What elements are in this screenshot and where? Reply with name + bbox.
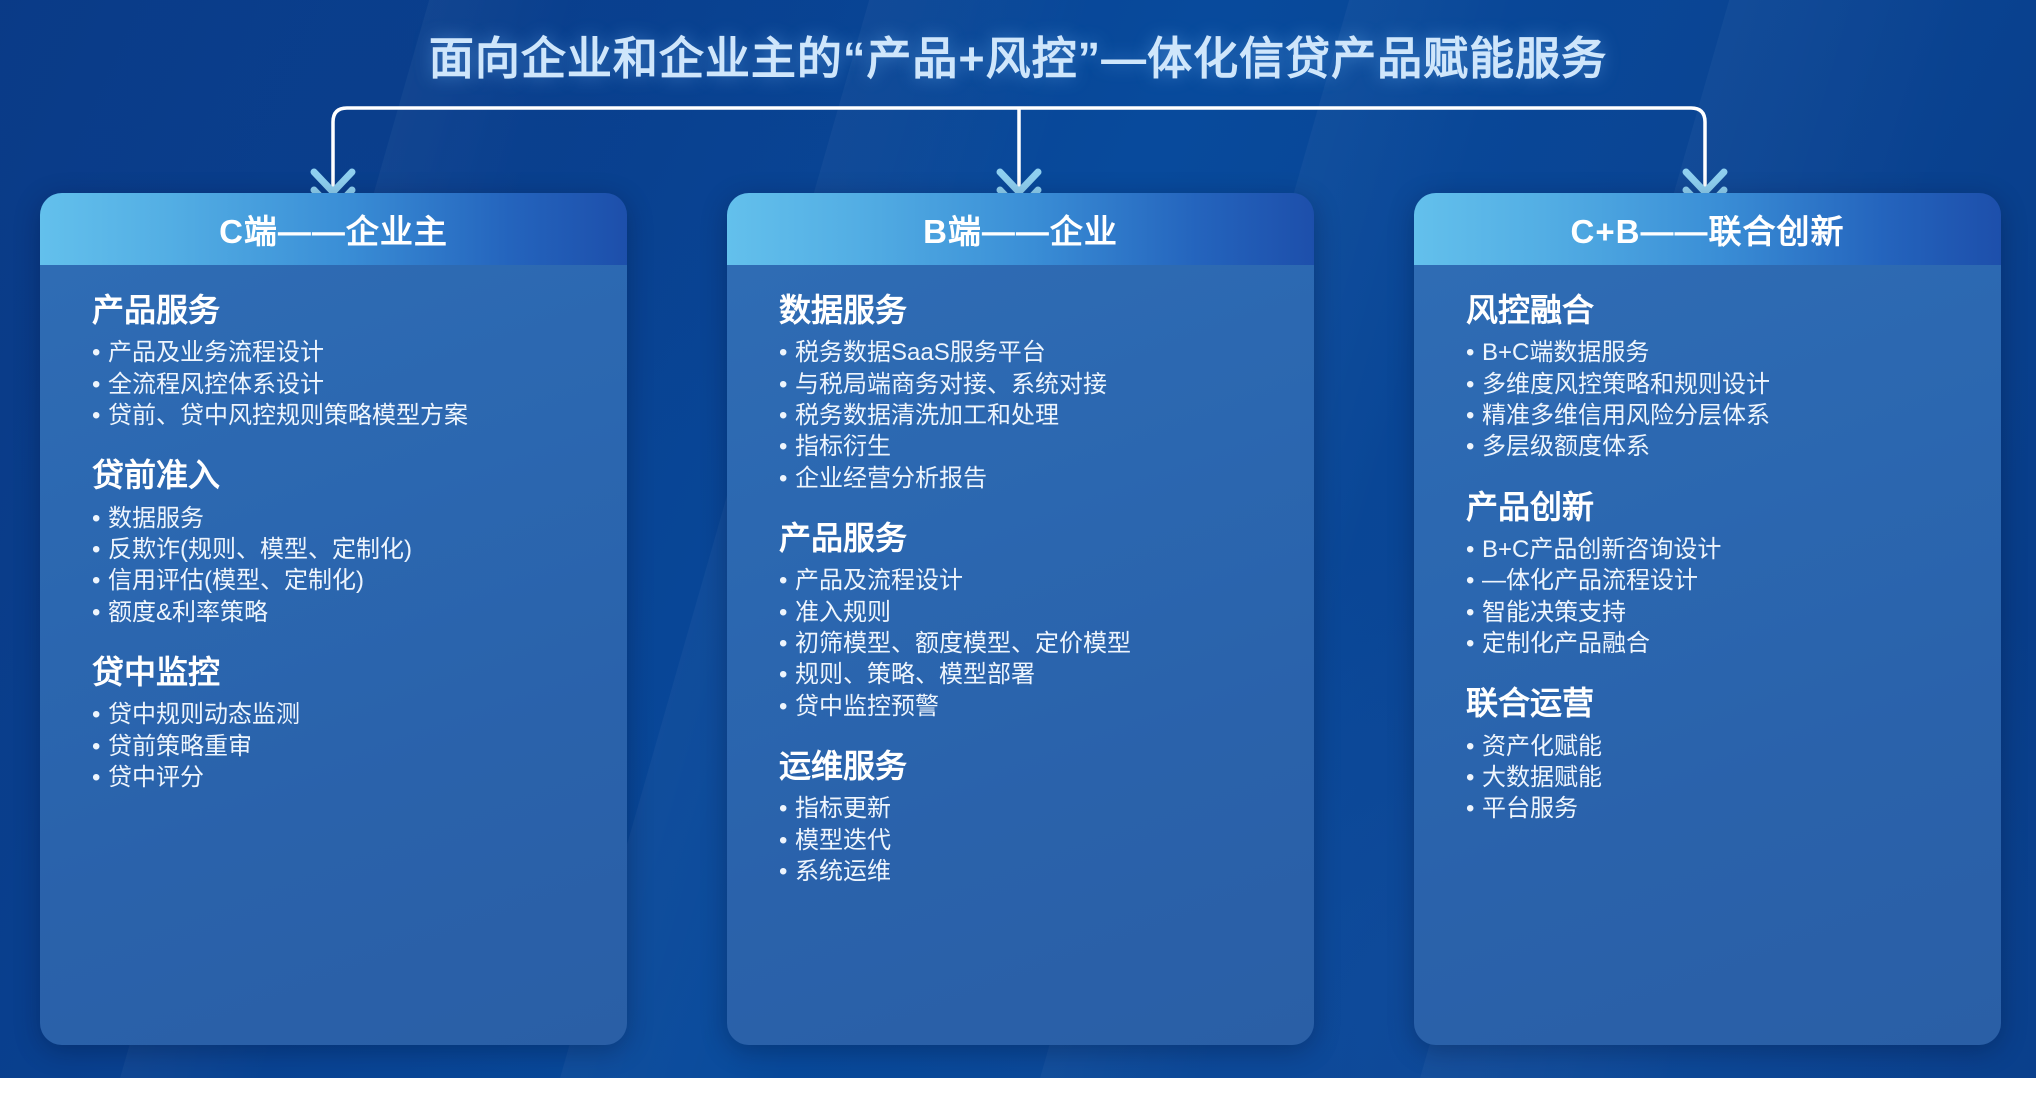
section-block: 产品服务 产品及流程设计 准入规则 初筛模型、额度模型、定价模型 规则、策略、模… bbox=[779, 519, 1288, 721]
bracket-connector bbox=[0, 86, 2036, 206]
list-item: 系统运维 bbox=[779, 858, 1288, 886]
list-item: 与税局端商务对接、系统对接 bbox=[779, 371, 1288, 399]
list-item: 贷前、贷中风控规则策略模型方案 bbox=[92, 402, 601, 430]
column-card-b-end[interactable]: B端——企业 数据服务 税务数据SaaS服务平台 与税局端商务对接、系统对接 税… bbox=[727, 193, 1314, 1045]
section-title: 风控融合 bbox=[1466, 291, 1975, 329]
section-title: 联合运营 bbox=[1466, 684, 1975, 722]
list-item: 智能决策支持 bbox=[1466, 599, 1975, 627]
list-item: —体化产品流程设计 bbox=[1466, 567, 1975, 595]
list-item: 多维度风控策略和规则设计 bbox=[1466, 371, 1975, 399]
column-card-c-plus-b[interactable]: C+B——联合创新 风控融合 B+C端数据服务 多维度风控策略和规则设计 精准多… bbox=[1414, 193, 2001, 1045]
section-item-list: 资产化赋能 大数据赋能 平台服务 bbox=[1466, 733, 1975, 824]
section-block: 贷中监控 贷中规则动态监测 贷前策略重审 贷中评分 bbox=[92, 653, 601, 792]
section-title: 运维服务 bbox=[779, 747, 1288, 785]
page-title: 面向企业和企业主的“产品+风控”—体化信贷产品赋能服务 bbox=[0, 22, 2036, 87]
section-item-list: 贷中规则动态监测 贷前策略重审 贷中评分 bbox=[92, 701, 601, 792]
column-body-c-plus-b: 风控融合 B+C端数据服务 多维度风控策略和规则设计 精准多维信用风险分层体系 … bbox=[1414, 265, 2001, 1045]
section-block: 产品服务 产品及业务流程设计 全流程风控体系设计 贷前、贷中风控规则策略模型方案 bbox=[92, 291, 601, 430]
column-body-c-end: 产品服务 产品及业务流程设计 全流程风控体系设计 贷前、贷中风控规则策略模型方案… bbox=[40, 265, 627, 1045]
section-block: 贷前准入 数据服务 反欺诈(规则、模型、定制化) 信用评估(模型、定制化) 额度… bbox=[92, 456, 601, 627]
list-item: 反欺诈(规则、模型、定制化) bbox=[92, 536, 601, 564]
section-block: 产品创新 B+C产品创新咨询设计 —体化产品流程设计 智能决策支持 定制化产品融… bbox=[1466, 488, 1975, 659]
list-item: B+C端数据服务 bbox=[1466, 339, 1975, 367]
list-item: 规则、策略、模型部署 bbox=[779, 661, 1288, 689]
section-title: 产品服务 bbox=[92, 291, 601, 329]
section-title: 产品服务 bbox=[779, 519, 1288, 557]
list-item: 平台服务 bbox=[1466, 795, 1975, 823]
list-item: 企业经营分析报告 bbox=[779, 465, 1288, 493]
section-item-list: 数据服务 反欺诈(规则、模型、定制化) 信用评估(模型、定制化) 额度&利率策略 bbox=[92, 505, 601, 627]
list-item: B+C产品创新咨询设计 bbox=[1466, 536, 1975, 564]
section-block: 运维服务 指标更新 模型迭代 系统运维 bbox=[779, 747, 1288, 886]
column-header-c-plus-b: C+B——联合创新 bbox=[1414, 193, 2001, 265]
list-item: 多层级额度体系 bbox=[1466, 433, 1975, 461]
footer-strip bbox=[0, 1078, 2036, 1110]
section-title: 数据服务 bbox=[779, 291, 1288, 329]
list-item: 产品及业务流程设计 bbox=[92, 339, 601, 367]
list-item: 信用评估(模型、定制化) bbox=[92, 567, 601, 595]
list-item: 资产化赋能 bbox=[1466, 733, 1975, 761]
list-item: 指标更新 bbox=[779, 795, 1288, 823]
list-item: 指标衍生 bbox=[779, 433, 1288, 461]
section-title: 贷前准入 bbox=[92, 456, 601, 494]
list-item: 数据服务 bbox=[92, 505, 601, 533]
column-header-b-end: B端——企业 bbox=[727, 193, 1314, 265]
section-item-list: 税务数据SaaS服务平台 与税局端商务对接、系统对接 税务数据清洗加工和处理 指… bbox=[779, 339, 1288, 493]
section-item-list: B+C产品创新咨询设计 —体化产品流程设计 智能决策支持 定制化产品融合 bbox=[1466, 536, 1975, 658]
section-block: 风控融合 B+C端数据服务 多维度风控策略和规则设计 精准多维信用风险分层体系 … bbox=[1466, 291, 1975, 462]
section-title: 贷中监控 bbox=[92, 653, 601, 691]
section-item-list: 指标更新 模型迭代 系统运维 bbox=[779, 795, 1288, 886]
section-item-list: 产品及业务流程设计 全流程风控体系设计 贷前、贷中风控规则策略模型方案 bbox=[92, 339, 601, 430]
section-title: 产品创新 bbox=[1466, 488, 1975, 526]
list-item: 税务数据清洗加工和处理 bbox=[779, 402, 1288, 430]
section-block: 联合运营 资产化赋能 大数据赋能 平台服务 bbox=[1466, 684, 1975, 823]
column-header-c-end: C端——企业主 bbox=[40, 193, 627, 265]
list-item: 贷中规则动态监测 bbox=[92, 701, 601, 729]
section-item-list: 产品及流程设计 准入规则 初筛模型、额度模型、定价模型 规则、策略、模型部署 贷… bbox=[779, 567, 1288, 721]
column-body-b-end: 数据服务 税务数据SaaS服务平台 与税局端商务对接、系统对接 税务数据清洗加工… bbox=[727, 265, 1314, 1045]
list-item: 贷前策略重审 bbox=[92, 733, 601, 761]
list-item: 准入规则 bbox=[779, 599, 1288, 627]
list-item: 产品及流程设计 bbox=[779, 567, 1288, 595]
list-item: 大数据赋能 bbox=[1466, 764, 1975, 792]
list-item: 定制化产品融合 bbox=[1466, 630, 1975, 658]
list-item: 全流程风控体系设计 bbox=[92, 371, 601, 399]
list-item: 模型迭代 bbox=[779, 827, 1288, 855]
infographic-slide: 面向企业和企业主的“产品+风控”—体化信贷产品赋能服务 C端——企业主 产品服务 bbox=[0, 0, 2036, 1110]
list-item: 精准多维信用风险分层体系 bbox=[1466, 402, 1975, 430]
column-card-c-end[interactable]: C端——企业主 产品服务 产品及业务流程设计 全流程风控体系设计 贷前、贷中风控… bbox=[40, 193, 627, 1045]
list-item: 额度&利率策略 bbox=[92, 599, 601, 627]
section-block: 数据服务 税务数据SaaS服务平台 与税局端商务对接、系统对接 税务数据清洗加工… bbox=[779, 291, 1288, 493]
list-item: 初筛模型、额度模型、定价模型 bbox=[779, 630, 1288, 658]
list-item: 税务数据SaaS服务平台 bbox=[779, 339, 1288, 367]
list-item: 贷中评分 bbox=[92, 764, 601, 792]
list-item: 贷中监控预警 bbox=[779, 693, 1288, 721]
section-item-list: B+C端数据服务 多维度风控策略和规则设计 精准多维信用风险分层体系 多层级额度… bbox=[1466, 339, 1975, 461]
